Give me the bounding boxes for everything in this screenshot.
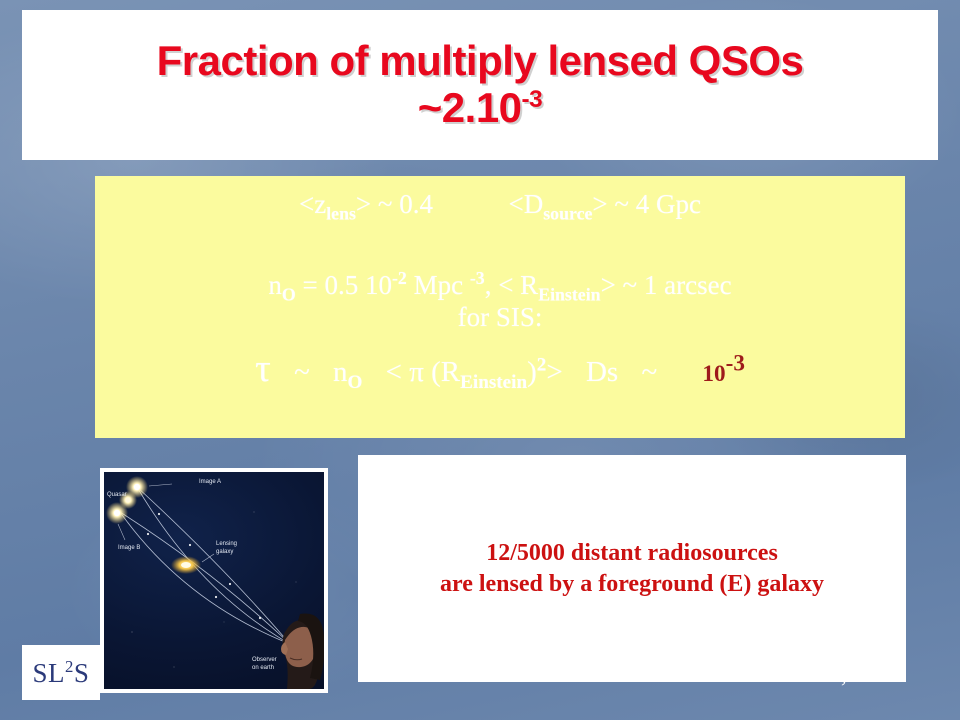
formula-line-for-sis: for SIS: (95, 302, 905, 333)
lens-label-lensing-galaxy: Lensing galaxy (216, 541, 237, 556)
background-stars (132, 512, 297, 668)
observer-figure (281, 613, 324, 689)
tau-result-value: 10 (702, 361, 725, 387)
image-b-source (106, 502, 128, 524)
z-lens-value: > ~ 0.4 (356, 189, 433, 219)
lens-label-image-a: Image A (199, 479, 221, 487)
tau-ds: Ds (586, 356, 618, 388)
page-title-exponent: -3 (522, 86, 543, 113)
tau-gt: > (546, 356, 570, 388)
r-einstein-value: > ~ 1 arcsec (601, 270, 732, 300)
lens-label-observer: Observer on earth (252, 657, 277, 672)
z-lens-bracket: <z (299, 189, 326, 219)
n-units: Mpc (407, 270, 470, 300)
tau-r-subscript: Einstein (460, 372, 527, 393)
n-exponent-2: -3 (470, 268, 485, 288)
page-title-value: ~2.10 (418, 84, 522, 131)
title-box: Fraction of multiply lensed QSOs ~2.10-3 (22, 10, 938, 160)
tau-symbol: τ (255, 347, 271, 390)
logo-prefix: SL (33, 658, 66, 688)
n-symbol: n (268, 270, 282, 300)
formula-line-optical-depth: τ ~ nO < π (REinstein)2> Ds ~ 10-3 (95, 346, 905, 394)
statement-line-1: 12/5000 distant radiosources (486, 538, 778, 569)
lensing-ray-diagram-svg (104, 472, 324, 689)
tau-square-exponent: 2 (537, 354, 547, 375)
page-title-line-2: ~2.10-3 (418, 87, 542, 130)
d-source-bracket: <D (509, 189, 544, 219)
r-einstein-prefix: , < R (485, 270, 539, 300)
n-exponent-1: -2 (392, 268, 407, 288)
tau-n-symbol: n (333, 356, 348, 388)
lensing-diagram-canvas: Image A Quasar Image B Lensing galaxy Ob… (104, 472, 324, 689)
tau-approx-1: ~ (294, 356, 310, 388)
formula-line-averages: <zlens> ~ 0.4 <Dsource> ~ 4 Gpc (95, 189, 905, 224)
z-lens-subscript: lens (326, 203, 356, 223)
slide-canvas: Fraction of multiply lensed QSOs ~2.10-3… (0, 0, 960, 720)
formula-panel: <zlens> ~ 0.4 <Dsource> ~ 4 Gpc nO = 0.5… (95, 176, 905, 438)
d-source-value: > ~ 4 Gpc (592, 189, 701, 219)
tau-approx-2: ~ (641, 356, 657, 388)
logo-suffix: S (74, 658, 90, 688)
tau-paren-close: ) (527, 356, 537, 388)
lensing-diagram-figure: Image A Quasar Image B Lensing galaxy Ob… (100, 468, 328, 693)
sl2s-logo: SL2S (22, 645, 100, 700)
statement-line-2: are lensed by a foreground (E) galaxy (440, 569, 824, 600)
logo-exponent: 2 (65, 657, 74, 676)
n-equals-value: = 0.5 10 (296, 270, 392, 300)
tau-n-subscript: O (348, 372, 363, 393)
page-title-line-1: Fraction of multiply lensed QSOs (157, 40, 804, 83)
footer-date: Feb. 23, 2007 (772, 662, 899, 688)
footer-venue: IAP (474, 662, 511, 688)
lens-label-image-b: Image B (118, 545, 140, 553)
sl2s-logo-text: SL2S (33, 657, 90, 689)
d-source-subscript: source (543, 203, 592, 223)
light-ray-paths (120, 487, 290, 644)
formula-line-density: nO = 0.5 10-2 Mpc -3, < REinstein> ~ 1 a… (95, 268, 905, 305)
tau-cross-section: < π (R (386, 356, 461, 388)
lens-label-quasar: Quasar (107, 492, 127, 500)
statement-box: 12/5000 distant radiosources are lensed … (358, 455, 906, 682)
tau-result-exponent: -3 (726, 350, 745, 376)
lensing-galaxy (171, 556, 201, 574)
